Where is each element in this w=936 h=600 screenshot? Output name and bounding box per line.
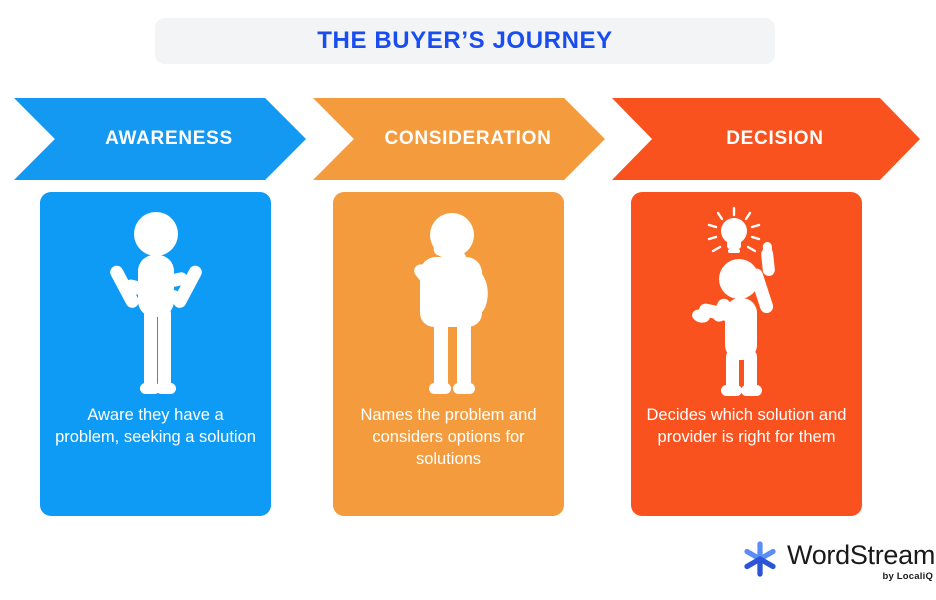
stage-card-awareness[interactable]: Aware they have a problem, seeking a sol… [40, 192, 271, 516]
chevron-awareness[interactable]: AWARENESS [14, 98, 306, 180]
stage-description-consideration: Names the problem and considers options … [333, 404, 564, 470]
stage-description-awareness: Aware they have a problem, seeking a sol… [40, 404, 271, 448]
chevron-label-consideration: CONSIDERATION [384, 128, 551, 150]
logo-wordmark: WordStream [787, 541, 935, 570]
chevron-consideration[interactable]: CONSIDERATION [313, 98, 605, 180]
page-title-pill: THE BUYER’S JOURNEY [155, 18, 775, 64]
logo-subtitle: by LocaliQ [882, 571, 933, 582]
asterisk-snowflake-icon [741, 540, 779, 583]
chevron-label-awareness: AWARENESS [105, 128, 233, 150]
person-arms-folded-icon [96, 206, 216, 396]
page-title: THE BUYER’S JOURNEY [317, 27, 612, 55]
chevron-label-decision: DECISION [726, 128, 823, 150]
wordstream-logo[interactable]: WordStream by LocaliQ [741, 537, 921, 585]
chevron-decision[interactable]: DECISION [612, 98, 920, 180]
stage-description-decision: Decides which solution and provider is r… [631, 404, 862, 448]
stage-card-consideration[interactable]: Names the problem and considers options … [333, 192, 564, 516]
stage-card-decision[interactable]: Decides which solution and provider is r… [631, 192, 862, 516]
person-idea-lightbulb-icon [677, 206, 817, 396]
person-thinking-icon [389, 206, 509, 396]
stage-chevron-band: AWARENESS CONSIDERATION DECISION [0, 98, 936, 180]
